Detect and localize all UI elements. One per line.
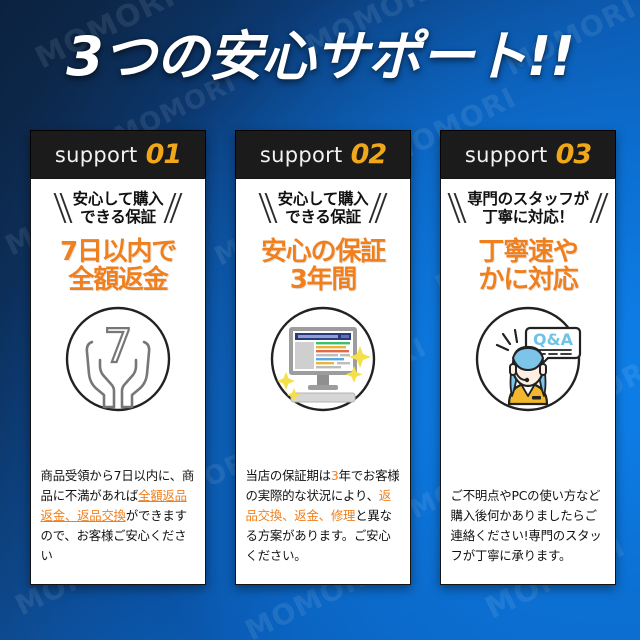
support-cards: support 01 安心して購入 できる保証 7日以内で 全額返金 [30, 130, 616, 585]
subtitle-line1-01: 安心して購入 [73, 190, 164, 208]
svg-text:Q&A: Q&A [533, 330, 574, 349]
card-header-03: support 03 [440, 130, 616, 178]
subtitle-line2-01: できる保証 [80, 208, 156, 226]
promo-banner: MOMORIMOMORIMOMORIMOMORIMOMORIMOMORIMOMO… [0, 0, 640, 640]
card-subtitle-01: 安心して購入 できる保証 [37, 190, 199, 227]
subtitle-text-03: 専門のスタッフが 丁寧に対応！ [467, 190, 589, 227]
slash-left-icon [262, 193, 274, 223]
subtitle-text-01: 安心して購入 できる保証 [73, 190, 164, 227]
card-header-02: support 02 [235, 130, 411, 178]
subtitle-line1-03: 専門のスタッフが [467, 190, 589, 208]
support-card-01[interactable]: support 01 安心して購入 できる保証 7日以内で 全額返金 [30, 130, 206, 585]
slash-left-icon [57, 193, 69, 223]
page-title: 3つの安心サポート!! [0, 30, 640, 84]
body-part: 当店の保証期は [246, 468, 331, 483]
support-card-02[interactable]: support 02 安心して購入 できる保証 安心の保証 3年間 [235, 130, 411, 585]
support-number-02: 02 [351, 139, 387, 170]
support-word-02: support [260, 143, 343, 167]
card-body-02: 安心して購入 できる保証 安心の保証 3年間 [235, 178, 411, 585]
slash-right-icon [372, 193, 384, 223]
card-body-text-01: 商品受領から7日以内に、商品に不満があれば全額返品返金、返品交換ができますので、… [41, 466, 196, 566]
desktop-monitor-sparkle-icon [264, 300, 382, 418]
support-word-01: support [55, 143, 138, 167]
subtitle-line1-02: 安心して購入 [278, 190, 369, 208]
card-body-01: 安心して購入 できる保証 7日以内で 全額返金 7 [30, 178, 206, 585]
card-headline-01: 7日以内で 全額返金 [60, 238, 176, 294]
subtitle-line2-03: 丁寧に対応！ [482, 208, 573, 226]
headline-line1-03: 丁寧速や [478, 237, 577, 267]
card-body-03: 専門のスタッフが 丁寧に対応！ 丁寧速や かに対応 [440, 178, 616, 585]
slash-left-icon [451, 193, 463, 223]
card-subtitle-02: 安心して購入 できる保証 [242, 190, 404, 227]
card-subtitle-03: 専門のスタッフが 丁寧に対応！ [447, 190, 609, 227]
card-header-01: support 01 [30, 130, 206, 178]
hands-holding-seven-icon: 7 [59, 300, 177, 418]
headline-line1-01: 7日以内で [60, 237, 176, 267]
support-number-03: 03 [556, 139, 592, 170]
slash-right-icon [167, 193, 179, 223]
card-headline-03: 丁寧速や かに対応 [478, 238, 577, 294]
card-headline-02: 安心の保証 3年間 [261, 238, 385, 294]
body-part: ご不明点やPCの使い方など購入後何かありましたらご連絡ください!専門のスタッフが… [451, 488, 602, 563]
headline-line2-03: かに対応 [478, 265, 577, 295]
headline-line2-02: 3年間 [290, 265, 357, 295]
headline-line1-02: 安心の保証 [261, 237, 385, 267]
headline-line2-01: 全額返金 [68, 265, 167, 295]
body-part-highlight: 3 [331, 468, 339, 483]
support-operator-qa-icon: Q&A [469, 300, 587, 418]
slash-right-icon [593, 193, 605, 223]
support-card-03[interactable]: support 03 専門のスタッフが 丁寧に対応！ 丁寧速や かに対応 [440, 130, 616, 585]
card-body-text-02: 当店の保証期は3年でお客様の実際的な状況により、返品交換、返金、修理と異なる方案… [246, 466, 401, 566]
subtitle-text-02: 安心して購入 できる保証 [278, 190, 369, 227]
svg-text:7: 7 [103, 319, 132, 373]
subtitle-line2-02: できる保証 [285, 208, 361, 226]
card-body-text-03: ご不明点やPCの使い方など購入後何かありましたらご連絡ください!専門のスタッフが… [451, 486, 606, 566]
support-word-03: support [465, 143, 548, 167]
support-number-01: 01 [146, 139, 182, 170]
